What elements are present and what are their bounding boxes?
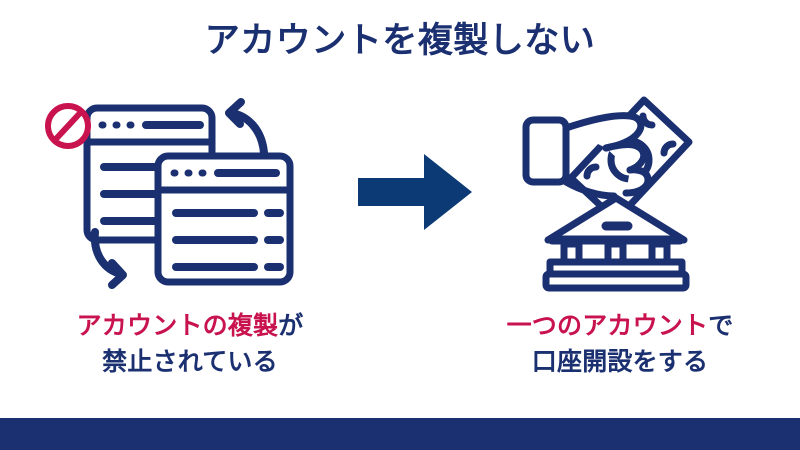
bottom-accent-bar (0, 418, 800, 450)
bank-building-shape (546, 198, 686, 288)
caption-left-line1-highlight: アカウントの複製 (77, 312, 279, 340)
curved-arrow-up-left-icon (229, 102, 264, 153)
duplicate-windows-prohibited-icon (42, 92, 310, 292)
caption-left-line1: アカウントの複製が (20, 308, 360, 344)
caption-right-line2: 口座開設をする (450, 344, 790, 380)
caption-left-line1-tail: が (278, 312, 303, 340)
slide-canvas: アカウントを複製しない (0, 0, 800, 450)
prohibition-sign-icon (48, 106, 88, 146)
caption-left-line2: 禁止されている (20, 344, 360, 380)
caption-right-line1-tail: で (708, 312, 733, 340)
content-row (0, 92, 800, 302)
hand-depositing-money-into-bank-icon (518, 92, 723, 292)
page-title: アカウントを複製しない (0, 22, 800, 61)
caption-right-line1-highlight: 一つのアカウント (507, 312, 709, 340)
caption-right-line1: 一つのアカウントで (450, 308, 790, 344)
caption-right: 一つのアカウントで 口座開設をする (450, 308, 790, 381)
caption-left: アカウントの複製が 禁止されている (20, 308, 360, 381)
right-arrow-icon (352, 92, 478, 292)
